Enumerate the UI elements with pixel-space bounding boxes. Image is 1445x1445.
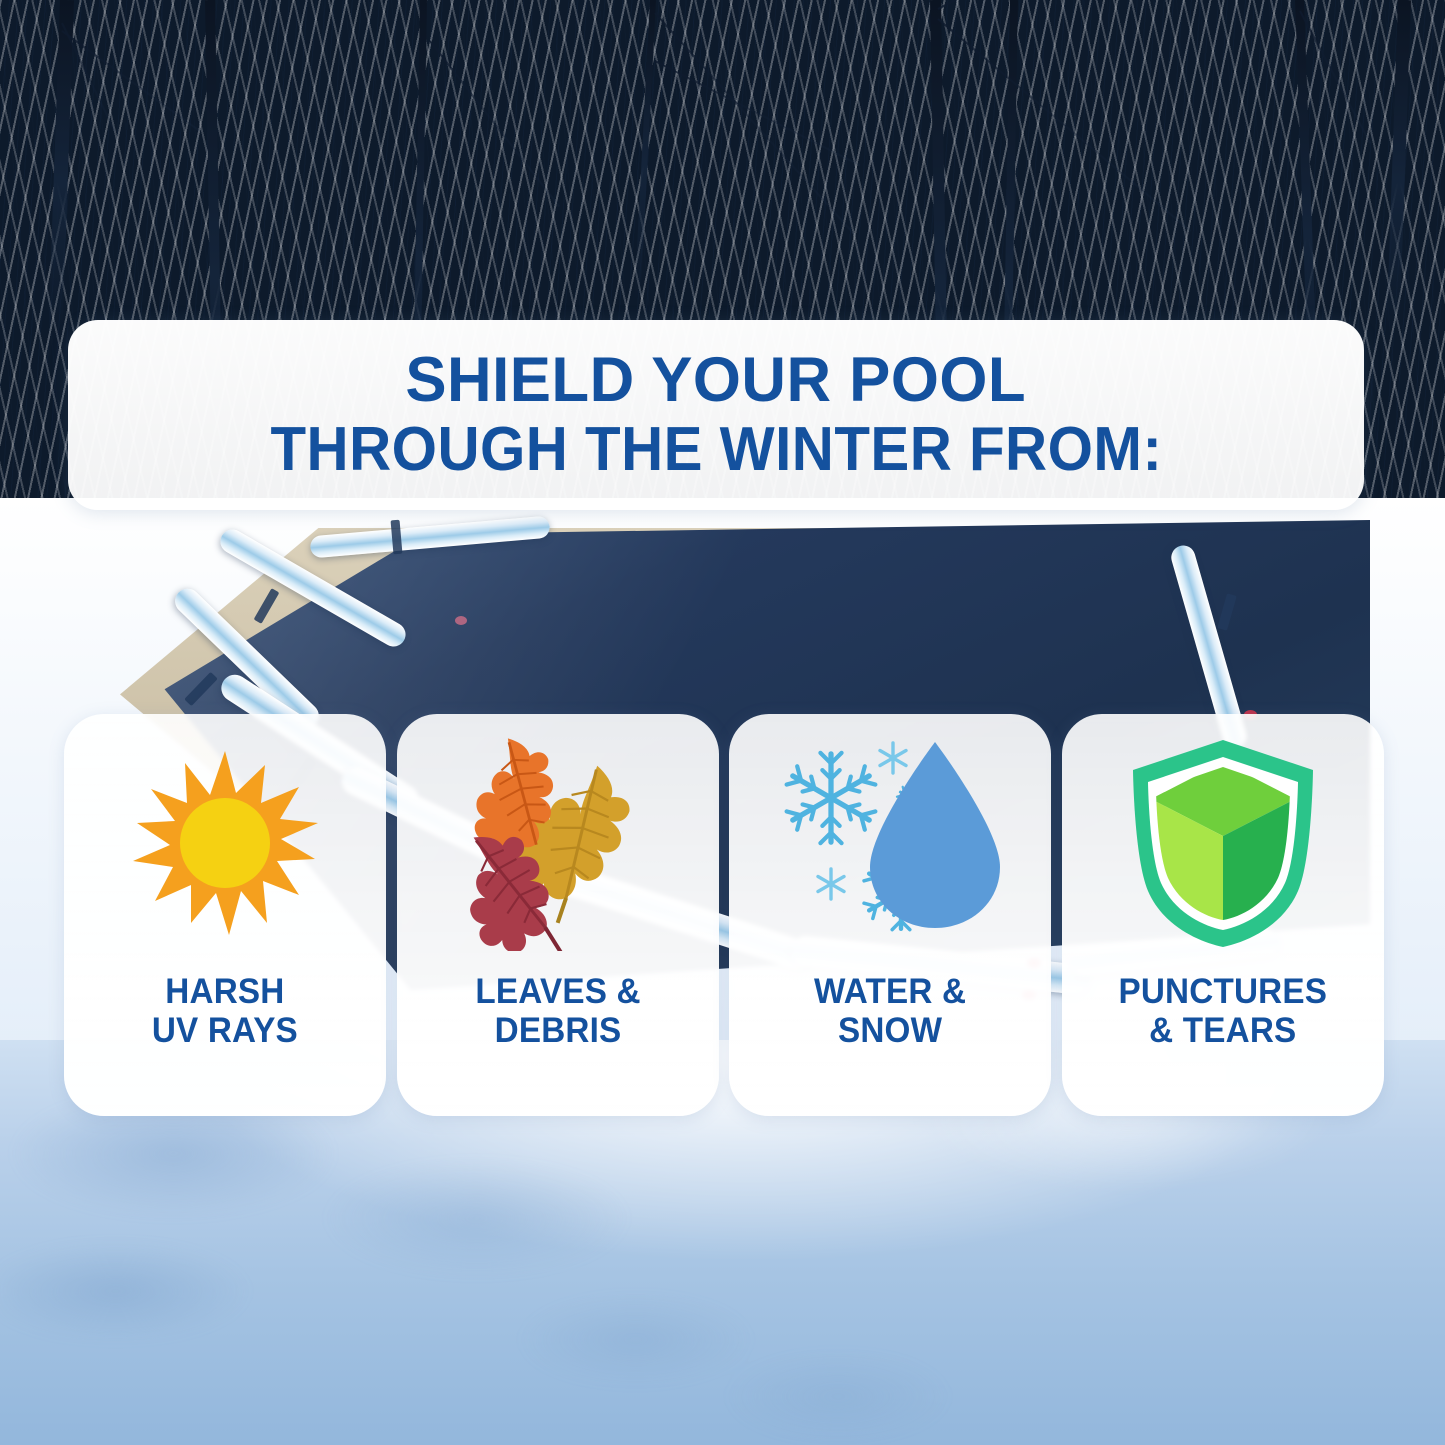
sun-icon bbox=[125, 743, 325, 943]
snowflake-icon bbox=[787, 752, 876, 842]
snowflake-icon bbox=[880, 743, 906, 773]
autumn-leaves-icon bbox=[453, 736, 663, 951]
card-icon-slot bbox=[397, 714, 719, 972]
headline-banner: SHIELD YOUR POOL THROUGH THE WINTER FROM… bbox=[68, 320, 1364, 510]
feature-card-punctures-tears[interactable]: PUNCTURES & TEARS bbox=[1062, 714, 1384, 1116]
feature-label: LEAVES & DEBRIS bbox=[475, 972, 640, 1050]
card-icon-slot bbox=[729, 714, 1051, 972]
feature-label: HARSH UV RAYS bbox=[152, 972, 298, 1050]
headline-line-1: SHIELD YOUR POOL bbox=[406, 349, 1027, 412]
feature-card-row: HARSH UV RAYS bbox=[64, 714, 1384, 1116]
tube-valve bbox=[455, 616, 467, 625]
card-icon-slot bbox=[64, 714, 386, 972]
feature-label: PUNCTURES & TEARS bbox=[1119, 972, 1328, 1050]
feature-card-harsh-uv-rays[interactable]: HARSH UV RAYS bbox=[64, 714, 386, 1116]
poster-canvas: SHIELD YOUR POOL THROUGH THE WINTER FROM… bbox=[0, 0, 1445, 1445]
card-icon-slot bbox=[1062, 714, 1384, 972]
feature-label: WATER & SNOW bbox=[814, 972, 966, 1050]
shield-cube-icon bbox=[1123, 736, 1323, 951]
feature-card-water-snow[interactable]: WATER & SNOW bbox=[729, 714, 1051, 1116]
water-drop-icon bbox=[870, 742, 1000, 928]
water-drop-snowflake-icon bbox=[775, 736, 1005, 951]
snowflake-icon bbox=[818, 869, 844, 899]
headline-line-2: THROUGH THE WINTER FROM: bbox=[270, 419, 1162, 481]
feature-card-leaves-debris[interactable]: LEAVES & DEBRIS bbox=[397, 714, 719, 1116]
